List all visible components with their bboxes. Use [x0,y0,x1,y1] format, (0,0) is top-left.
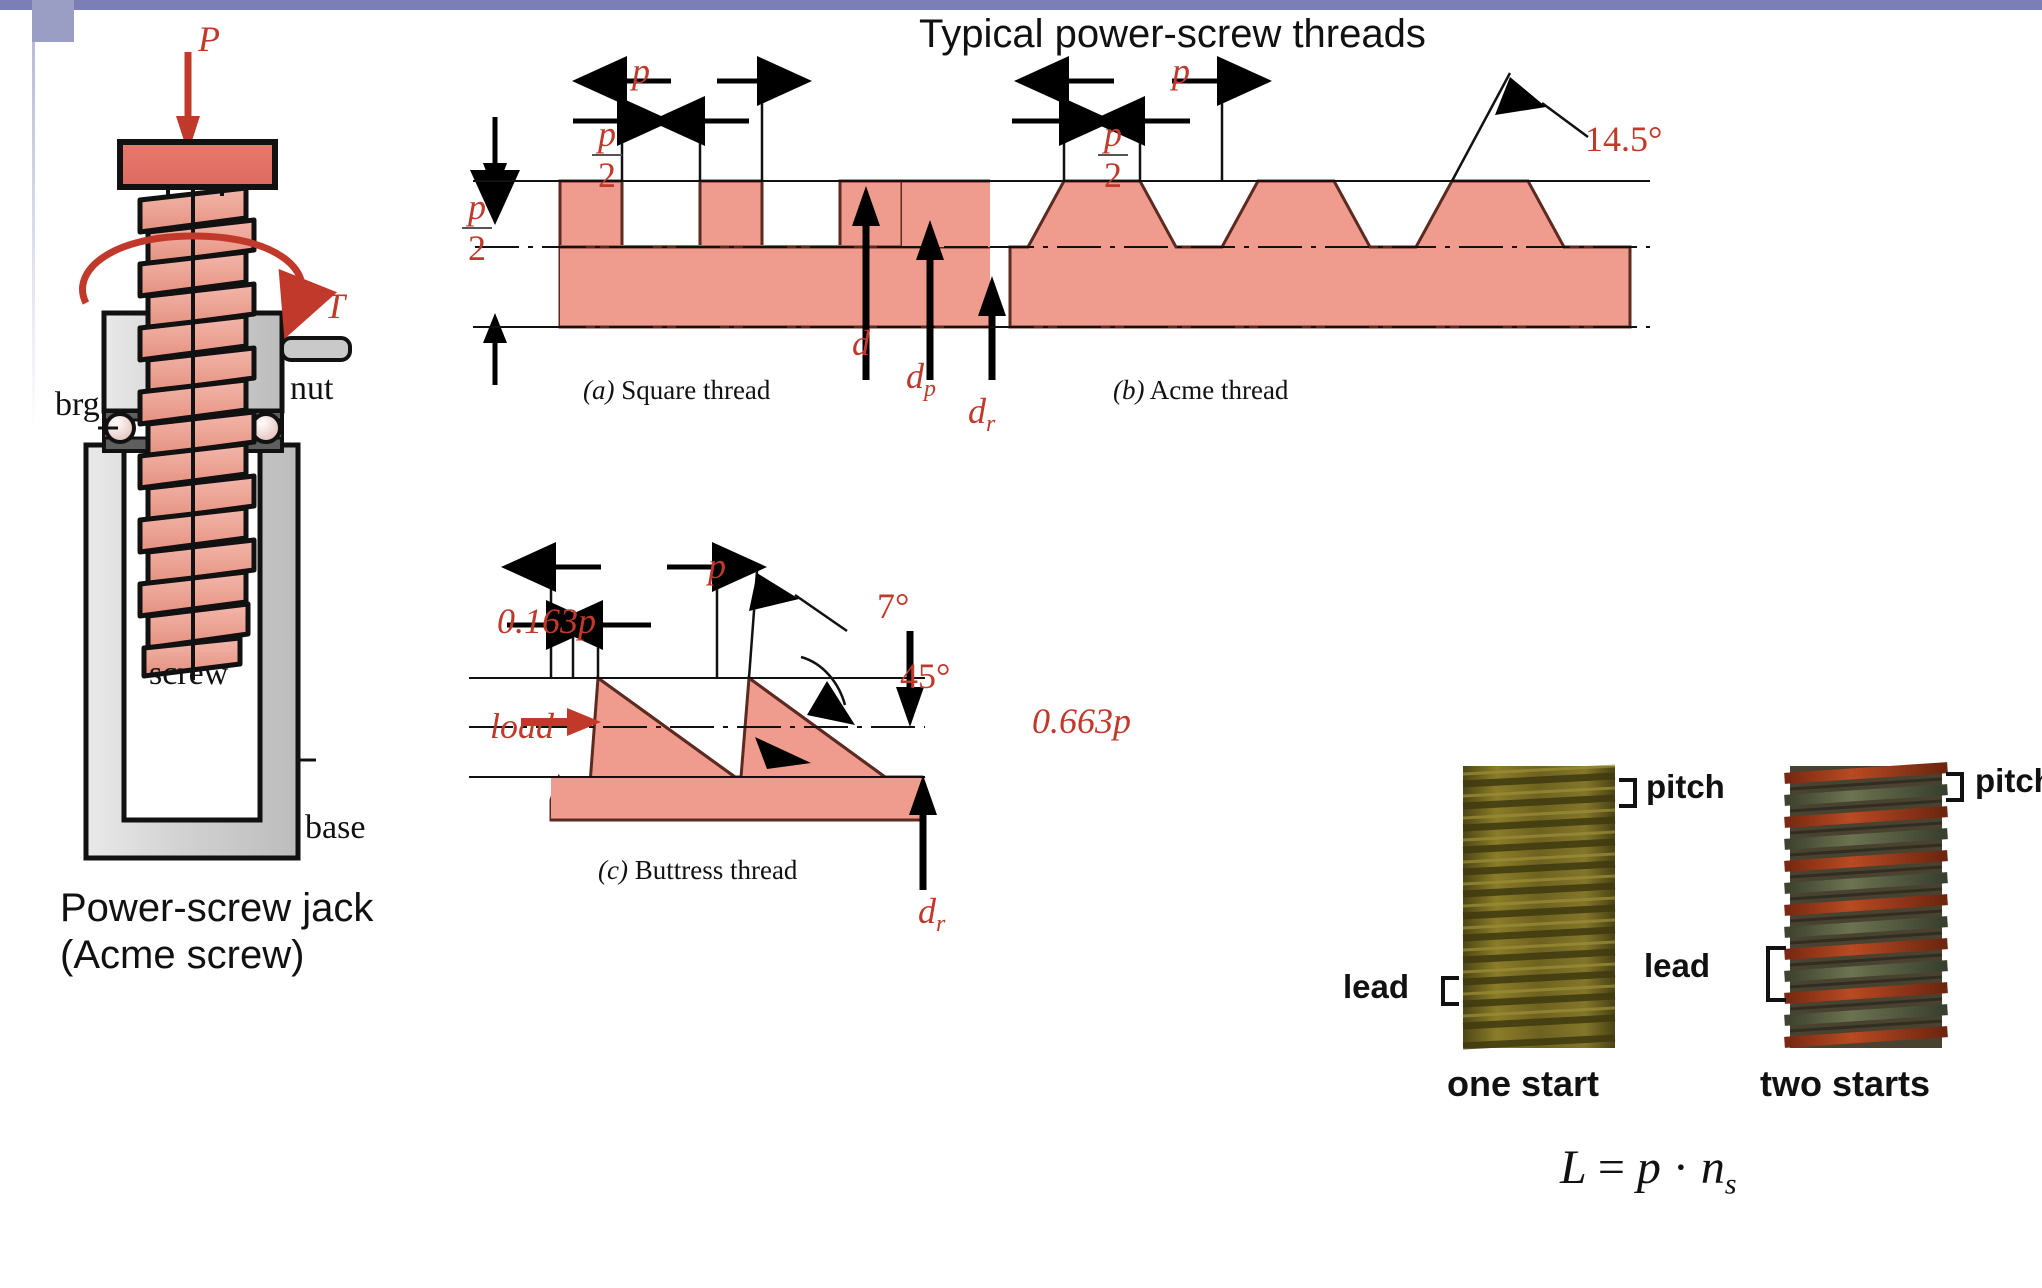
label-base: base [305,809,365,847]
formula-dot: · [1673,1141,1689,1194]
acme-half-pitch-numerator: p [1098,117,1128,152]
buttress-thread-caption: (c) Buttress thread [598,855,797,886]
one-start-pitch-bracket [1619,780,1635,806]
label-major-diameter-d: d [852,322,870,364]
two-starts-caption: two starts [1760,1063,1930,1105]
buttress-dr-base: d [918,891,936,931]
load-force-arrow-P [176,52,200,153]
acme-half-pitch-denominator: 2 [1098,158,1128,193]
half-pitch-denominator: 2 [592,158,622,193]
square-caption-index: (a) [583,375,614,405]
square-depth-fraction: p 2 [462,190,492,267]
label-nut: nut [290,370,333,408]
square-pitch-label: p [632,50,650,92]
buttress-caption-index: (c) [598,855,628,885]
acme-half-pitch-fraction: p 2 [1098,117,1128,194]
dp-base: d [906,356,924,396]
square-half-pitch-fraction: p 2 [592,117,622,194]
jack-caption-line2: (Acme screw) [60,932,304,979]
formula-starts: n [1701,1141,1725,1194]
depth-numerator: p [462,190,492,225]
buttress-dr-sub: r [936,911,945,937]
formula-lhs: L [1560,1141,1586,1194]
buttress-pitch-label: p [708,545,726,587]
acme-pitch-label: p [1172,50,1190,92]
jack-screw-threads [140,170,254,680]
two-starts-pitch-bracket [1946,774,1962,800]
acme-caption-text: Acme thread [1150,375,1289,405]
acme-thread-profile [990,55,1650,395]
half-pitch-numerator: p [592,117,622,152]
slide-top-accent-bar [0,0,2042,10]
label-load-P: P [198,18,220,60]
formula-equals: = [1598,1141,1625,1194]
two-starts-pitch-label: pitch [1975,762,2042,800]
dp-sub: p [924,376,936,402]
label-screw: screw [149,655,228,693]
formula-starts-sub: s [1725,1168,1737,1201]
label-root-diameter-dr: dr [968,390,995,438]
jack-load-cap [120,142,275,187]
buttress-load-label: load [490,705,554,747]
acme-thread-caption: (b) Acme thread [1113,375,1288,406]
label-brg: brg [55,386,100,424]
dr-sub: r [986,411,995,437]
buttress-depth-label: 0.663p [1032,700,1131,742]
depth-denominator: 2 [462,231,492,266]
acme-flank-angle-label: 14.5° [1585,118,1662,160]
square-caption-text: Square thread [621,375,770,405]
acme-caption-index: (b) [1113,375,1144,405]
buttress-crest-width-label: 0.163p [497,600,596,642]
one-start-lead-label: lead [1343,968,1409,1006]
formula-pitch: p [1637,1141,1661,1194]
lead-formula: L = p · ns [1560,1140,1737,1202]
label-torque-T: T [325,285,345,327]
one-start-pitch-label: pitch [1646,768,1725,806]
two-starts-screw-illustration [1782,760,1952,1060]
power-screw-jack-diagram [0,20,440,870]
buttress-angle-front-label: 7° [877,585,909,627]
two-starts-lead-label: lead [1644,947,1710,985]
label-pitch-diameter-dp: dp [906,355,936,403]
buttress-angle-back-label: 45° [900,655,950,697]
buttress-root-diameter-label: dr [918,890,945,938]
one-start-lead-bracket [1443,978,1459,1004]
two-starts-lead-bracket [1768,948,1786,1000]
one-start-caption: one start [1447,1063,1599,1105]
buttress-caption-text: Buttress thread [635,855,798,885]
square-thread-caption: (a) Square thread [583,375,770,406]
one-start-screw-illustration [1455,760,1625,1060]
dr-base: d [968,391,986,431]
jack-caption-line1: Power-screw jack [60,885,373,932]
